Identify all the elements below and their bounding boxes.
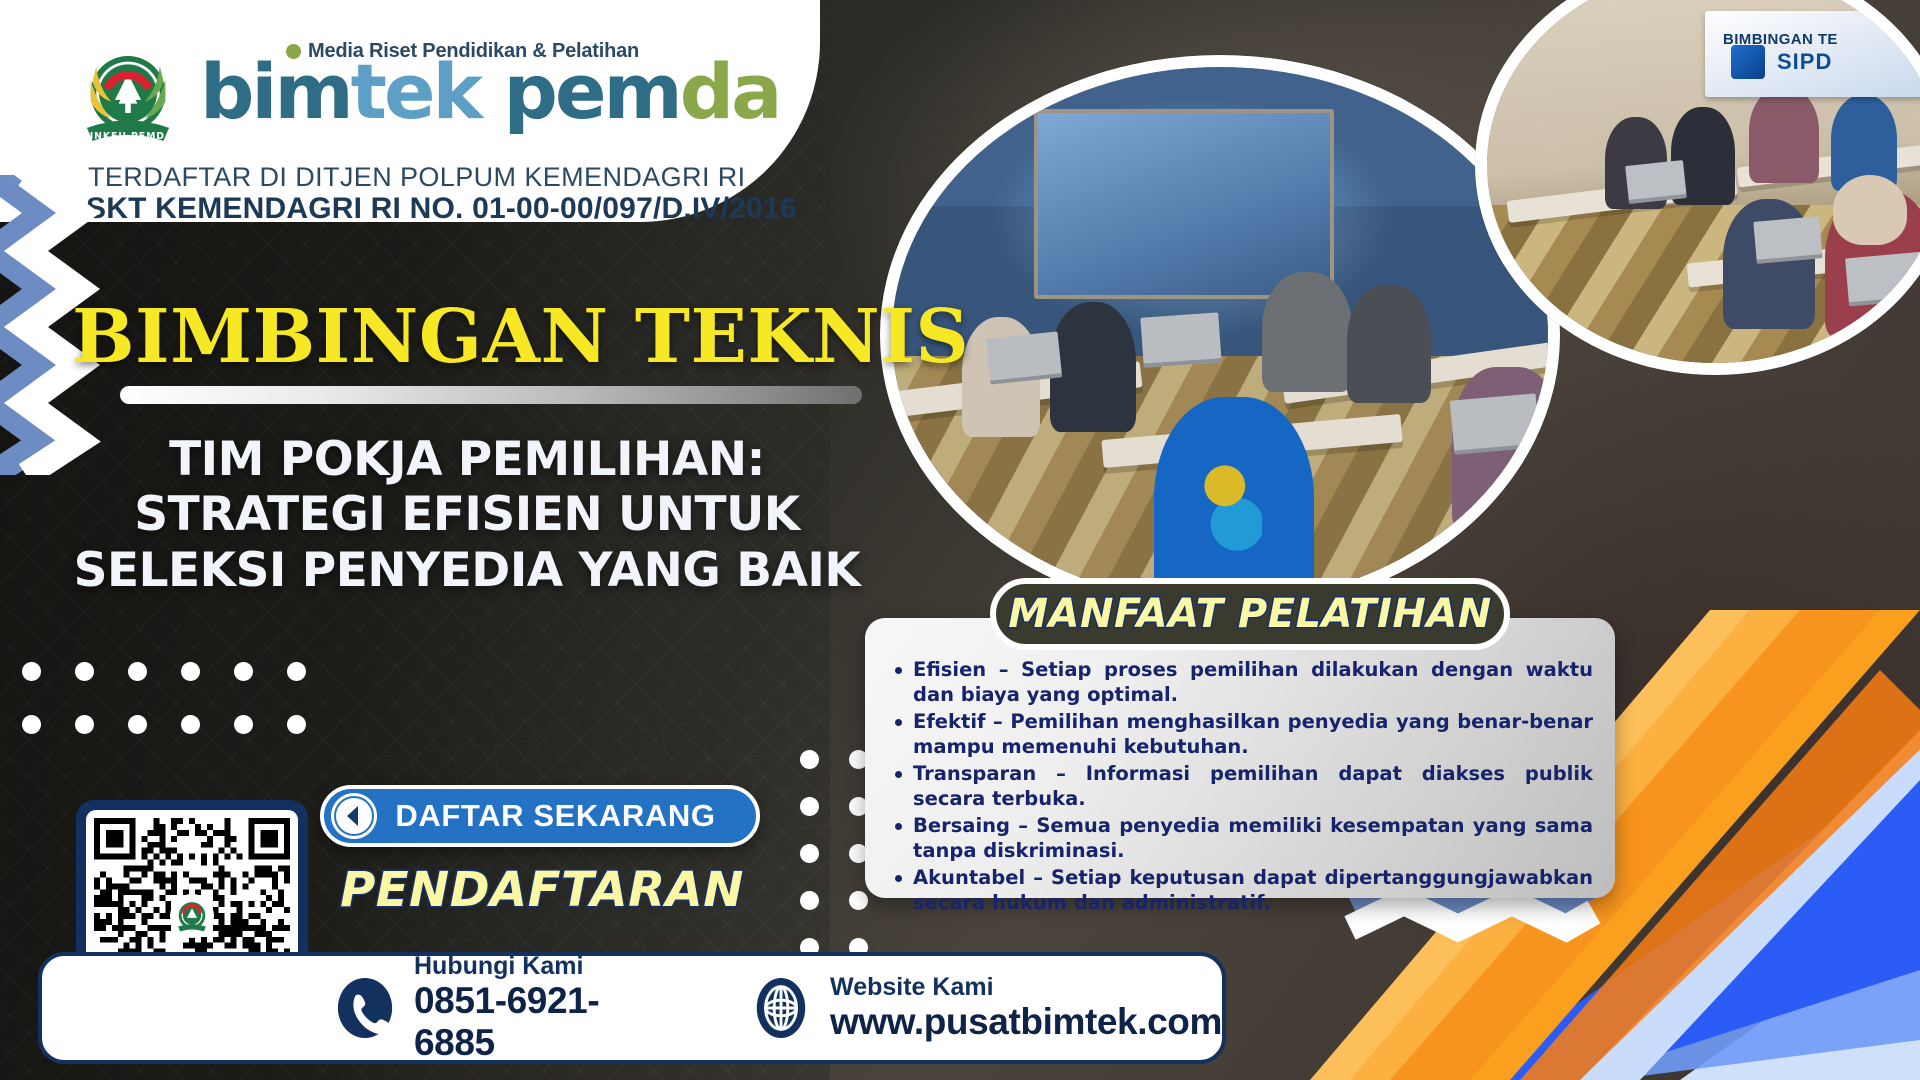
register-now-button[interactable]: DAFTAR SEKARANG [320,785,760,847]
linkeu-pemda-crest-icon: LINKEU PEMDA [72,42,184,154]
register-now-label: DAFTAR SEKARANG [377,798,756,834]
photo-event-banner: BIMBINGAN TE SIPD [1705,11,1920,97]
photo-circle-classroom-top: BIMBINGAN TE SIPD [1475,0,1920,375]
registration-line-2: SKT KEMENDAGRI RI NO. 01-00-00/097/D.IV/… [86,192,797,226]
website-value: www.pusatbimtek.com [830,1001,1222,1042]
website-label: Website Kami [830,974,1222,1002]
benefits-list: Efisien – Setiap proses pemilihan dilaku… [889,658,1593,916]
photo-circle-classroom-main [880,55,1560,615]
arrow-left-icon [331,793,377,839]
list-item: Efektif – Pemilihan menghasilkan penyedi… [889,710,1593,760]
brand-logo: LINKEU PEMDA Media Riset Pendidikan & Pe… [60,22,820,212]
subtitle-line-3: SELEKSI PENYEDIA YANG BAIK [72,543,862,598]
registration-line-1: TERDAFTAR DI DITJEN POLPUM KEMENDAGRI RI [88,162,746,193]
globe-icon [750,977,812,1039]
wordmark-bim: bim [200,47,351,136]
dot-grid-left [22,662,306,734]
wordmark-da: da [680,47,780,136]
benefits-panel: Efisien – Setiap proses pemilihan dilaku… [865,618,1615,898]
contact-bar: Hubungi Kami 0851-6921-6885 Website Kami… [38,952,1226,1064]
subtitle-line-1: TIM POKJA PEMILIHAN: [72,432,862,487]
qr-center-logo-icon [170,894,214,938]
phone-icon [334,977,396,1039]
list-item: Transparan – Informasi pemilihan dapat d… [889,762,1593,812]
registration-caption: PENDAFTARAN [332,862,752,918]
phone-value: 0851-6921-6885 [414,980,670,1063]
wordmark-tek: tek [351,47,480,136]
phone-label: Hubungi Kami [414,953,670,981]
page-subtitle: TIM POKJA PEMILIHAN: STRATEGI EFISIEN UN… [72,432,862,598]
title-divider [120,386,862,404]
list-item: Akuntabel – Setiap keputusan dapat diper… [889,866,1593,916]
contact-website[interactable]: Website Kami www.pusatbimtek.com [750,974,1222,1043]
photo-banner-subtitle: SIPD [1777,49,1832,75]
brand-wordmark: bimtek pemda [200,57,779,127]
benefits-heading: MANFAAT PELATIHAN [1008,591,1492,637]
svg-text:LINKEU PEMDA: LINKEU PEMDA [83,131,173,142]
contact-phone[interactable]: Hubungi Kami 0851-6921-6885 [334,953,670,1063]
page-title: BIMBINGAN TEKNIS [72,300,969,374]
list-item: Bersaing – Semua penyedia memiliki kesem… [889,814,1593,864]
subtitle-line-2: STRATEGI EFISIEN UNTUK [72,487,862,542]
poster-canvas: BIMBINGAN TE SIPD LINKEU PEMDA [0,0,1920,1080]
list-item: Efisien – Setiap proses pemilihan dilaku… [889,658,1593,708]
benefits-heading-pill: MANFAAT PELATIHAN [990,578,1510,650]
photo-banner-title: BIMBINGAN TE [1723,31,1838,48]
wordmark-pem: pem [504,47,680,136]
